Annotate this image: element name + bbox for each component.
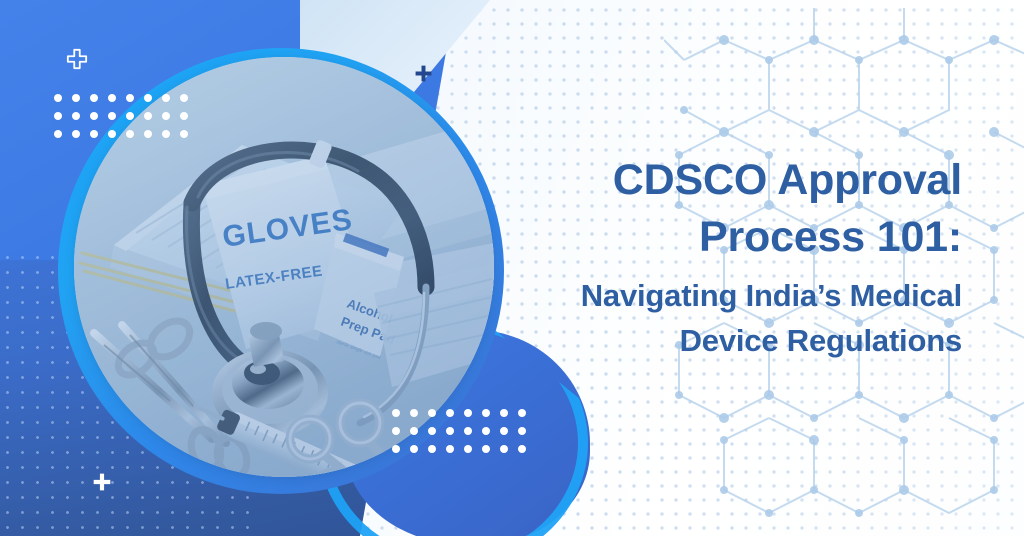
plus-icon xyxy=(414,64,433,83)
plus-icon xyxy=(66,48,88,70)
headline-line-1: CDSCO Approval xyxy=(532,152,962,209)
banner: GLOVES LATEX-FREE Alcohol Prep Pad steri… xyxy=(0,0,1024,536)
headline: CDSCO Approval Process 101: Navigating I… xyxy=(532,152,962,362)
headline-line-4: Device Regulations xyxy=(532,319,962,362)
dot-cluster xyxy=(54,94,188,138)
plus-icon xyxy=(92,472,112,492)
headline-line-3: Navigating India’s Medical xyxy=(532,274,962,317)
headline-line-2: Process 101: xyxy=(532,209,962,266)
dot-cluster xyxy=(392,409,526,453)
